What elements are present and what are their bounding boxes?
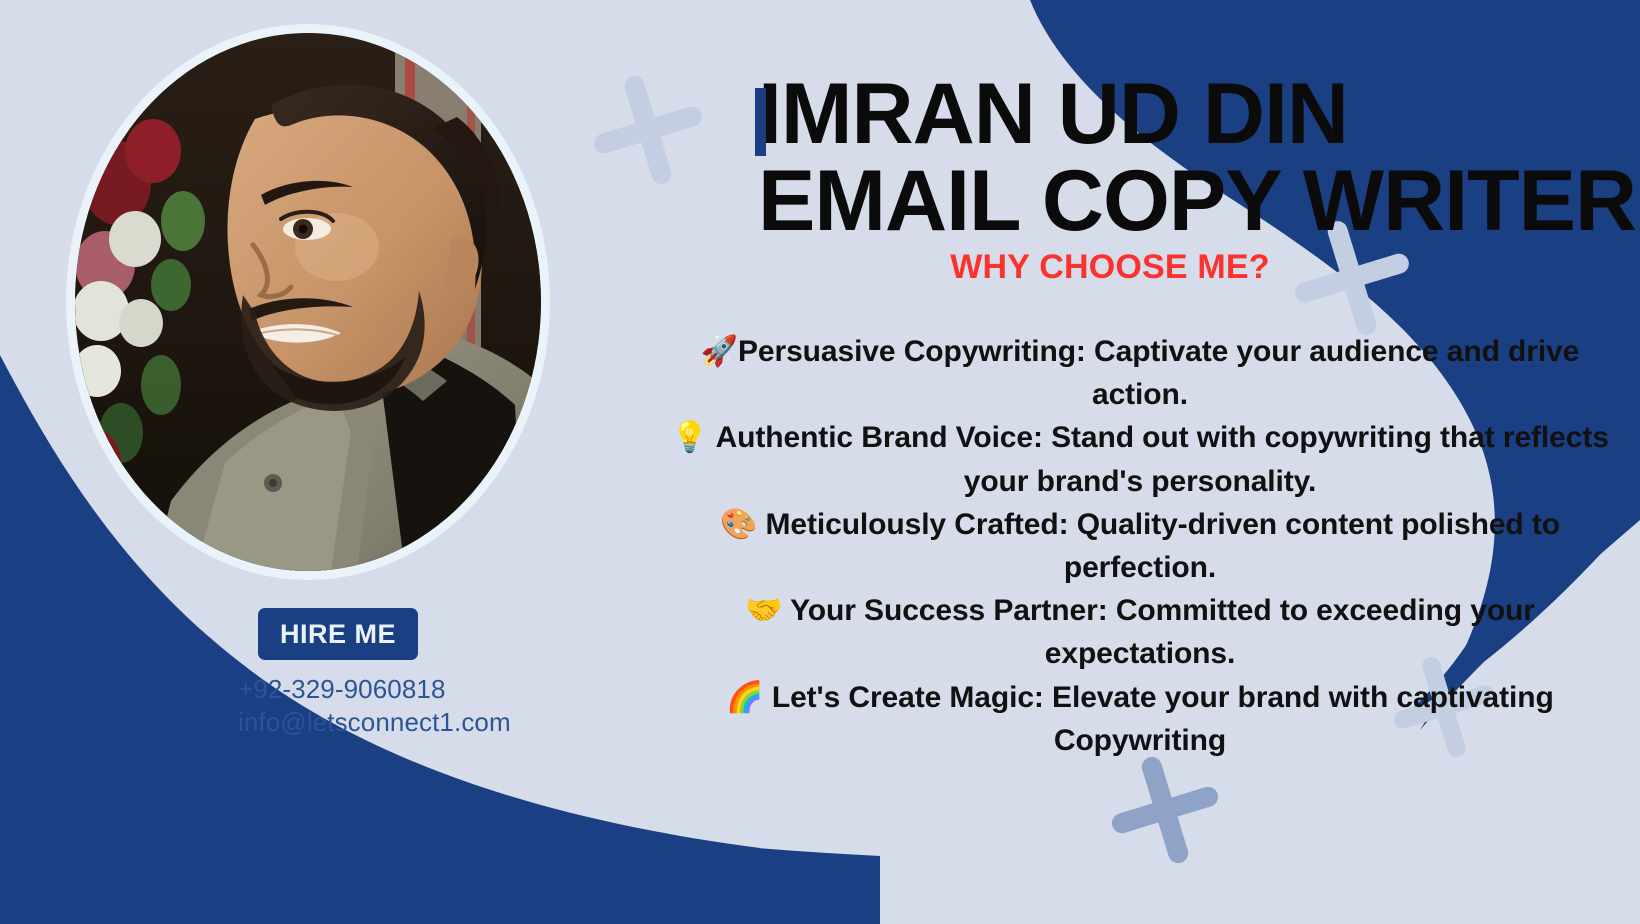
contact-phone[interactable]: +92-329-9060818 <box>238 674 446 705</box>
list-item: 💡 Authentic Brand Voice: Stand out with … <box>660 416 1620 502</box>
handshake-icon: 🤝 <box>745 593 782 628</box>
list-item: 🤝 Your Success Partner: Committed to exc… <box>660 589 1620 675</box>
page-subtitle: EMAIL COPY WRITER <box>758 153 1636 249</box>
benefits-list: 🚀Persuasive Copywriting: Captivate your … <box>660 330 1620 762</box>
name-accent-bar <box>755 88 766 156</box>
benefit-text: Your Success Partner: Committed to excee… <box>790 594 1535 670</box>
content-column: IMRAN UD DIN EMAIL COPY WRITER WHY CHOOS… <box>640 0 1640 924</box>
contact-email[interactable]: info@letsconnect1.com <box>238 707 511 738</box>
avatar-image <box>75 33 541 571</box>
list-item: 🌈 Let's Create Magic: Elevate your brand… <box>660 676 1620 762</box>
benefit-text: Let's Create Magic: Elevate your brand w… <box>772 681 1554 757</box>
benefit-text: Authentic Brand Voice: Stand out with co… <box>716 421 1609 497</box>
poster-canvas: HIRE ME +92-329-9060818 info@letsconnect… <box>0 0 1640 924</box>
headline-block: IMRAN UD DIN EMAIL COPY WRITER <box>640 74 1640 242</box>
list-item: 🚀Persuasive Copywriting: Captivate your … <box>660 330 1620 416</box>
benefit-text: Meticulously Crafted: Quality-driven con… <box>766 508 1560 584</box>
tagline-row: WHY CHOOSE ME? <box>640 248 1640 287</box>
rainbow-icon: 🌈 <box>726 680 763 715</box>
tagline: WHY CHOOSE ME? <box>950 248 1270 286</box>
hire-me-button[interactable]: HIRE ME <box>258 608 418 660</box>
rocket-icon: 🚀 <box>701 334 738 369</box>
profile-column: HIRE ME +92-329-9060818 info@letsconnect… <box>0 0 640 924</box>
lightbulb-icon: 💡 <box>671 420 708 455</box>
benefit-text: Persuasive Copywriting: Captivate your a… <box>738 335 1579 411</box>
role-row: EMAIL COPY WRITER <box>640 161 1640 242</box>
page-title: IMRAN UD DIN <box>758 66 1348 162</box>
list-item: 🎨 Meticulously Crafted: Quality-driven c… <box>660 503 1620 589</box>
avatar <box>66 24 550 580</box>
name-row: IMRAN UD DIN <box>640 74 1640 155</box>
palette-icon: 🎨 <box>720 507 757 542</box>
portrait-illustration <box>75 33 541 571</box>
